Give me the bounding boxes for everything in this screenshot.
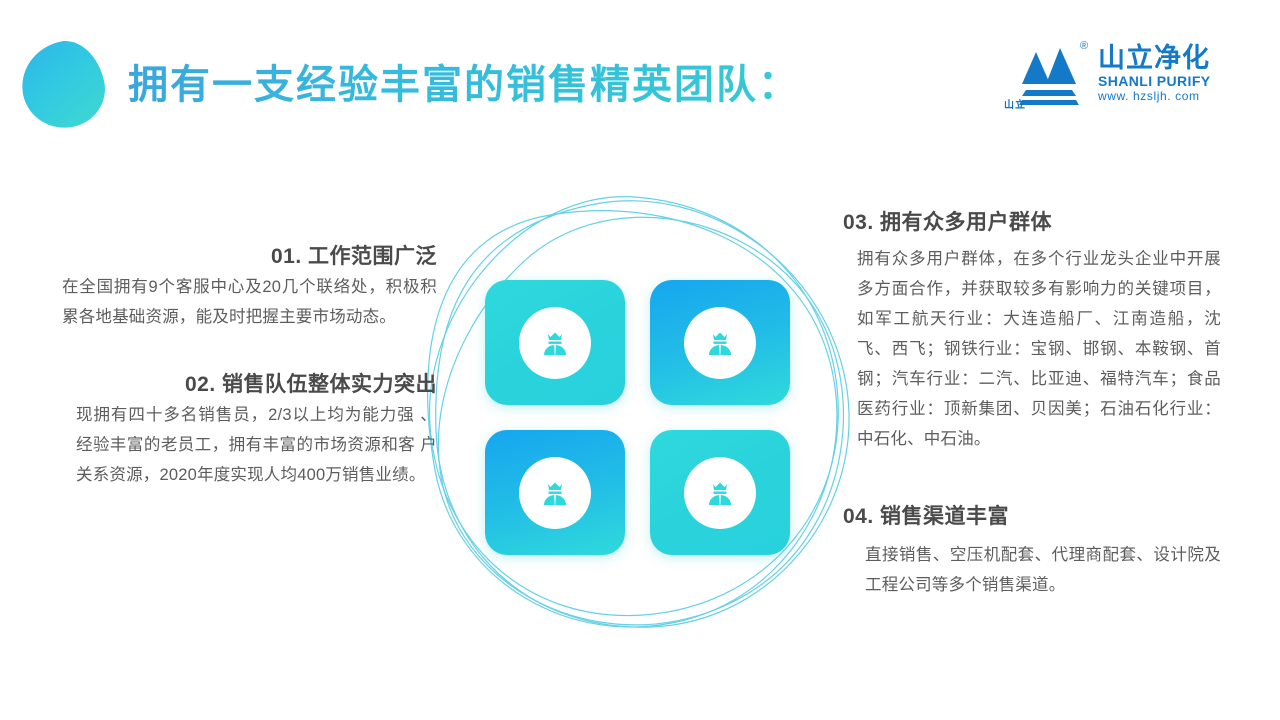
- logo-mark-caption: 山立: [1004, 96, 1026, 111]
- block-heading: 02. 销售队伍整体实力突出: [62, 370, 437, 400]
- crowned-user-icon: [535, 473, 575, 513]
- icon-tile-top-left[interactable]: [485, 280, 625, 405]
- registered-trademark-icon: ®: [1080, 40, 1088, 52]
- logo-url: www. hzsljh. com: [1098, 89, 1228, 104]
- center-graphic: [400, 175, 870, 645]
- company-logo: 山立 ® 山立净化 SHANLI PURIFY www. hzsljh. com: [1002, 40, 1228, 116]
- crowned-user-icon: [535, 323, 575, 363]
- content-block-03: 03. 拥有众多用户群体 拥有众多用户群体，在多个行业龙头企业中开展多方面合作，…: [843, 208, 1221, 454]
- crowned-user-icon: [700, 323, 740, 363]
- header-decor-blob-icon: [14, 34, 112, 135]
- icon-circle: [684, 457, 756, 529]
- block-body: 在全国拥有9个客服中心及20几个联络处，积极积累各地基础资源，能及时把握主要市场…: [62, 272, 437, 332]
- logo-name-en: SHANLI PURIFY: [1098, 73, 1228, 89]
- block-body: 现拥有四十多名销售员，2/3以上均为能力强 、 经验丰富的老员工，拥有丰富的市场…: [62, 400, 437, 490]
- content-block-01: 01. 工作范围广泛 在全国拥有9个客服中心及20几个联络处，积极积累各地基础资…: [62, 242, 437, 332]
- icon-circle: [519, 457, 591, 529]
- icon-circle: [684, 307, 756, 379]
- block-heading: 03. 拥有众多用户群体: [843, 208, 1221, 238]
- block-body: 直接销售、空压机配套、代理商配套、设计院及工程公司等多个销售渠道。: [843, 540, 1221, 600]
- icon-tile-bottom-right[interactable]: [650, 430, 790, 555]
- crowned-user-icon: [700, 473, 740, 513]
- block-heading: 04. 销售渠道丰富: [843, 502, 1221, 532]
- icon-circle: [519, 307, 591, 379]
- slide-root: 拥有一支经验丰富的销售精英团队： 山立 ® 山立净化 SHANLI PURIFY…: [0, 0, 1280, 720]
- logo-text-group: 山立净化 SHANLI PURIFY www. hzsljh. com: [1098, 43, 1228, 104]
- content-block-02: 02. 销售队伍整体实力突出 现拥有四十多名销售员，2/3以上均为能力强 、 经…: [62, 370, 437, 490]
- page-title: 拥有一支经验丰富的销售精英团队：: [128, 58, 800, 112]
- icon-tile-top-right[interactable]: [650, 280, 790, 405]
- right-text-column: 03. 拥有众多用户群体 拥有众多用户群体，在多个行业龙头企业中开展多方面合作，…: [843, 208, 1221, 600]
- block-body: 拥有众多用户群体，在多个行业龙头企业中开展多方面合作，并获取较多有影响力的关键项…: [843, 244, 1221, 454]
- icon-tile-grid: [485, 280, 790, 570]
- icon-tile-bottom-left[interactable]: [485, 430, 625, 555]
- mountain-logo-icon: 山立: [1002, 42, 1090, 112]
- block-heading: 01. 工作范围广泛: [62, 242, 437, 272]
- left-text-column: 01. 工作范围广泛 在全国拥有9个客服中心及20几个联络处，积极积累各地基础资…: [62, 242, 437, 490]
- logo-name-cn: 山立净化: [1098, 43, 1228, 73]
- content-block-04: 04. 销售渠道丰富 直接销售、空压机配套、代理商配套、设计院及工程公司等多个销…: [843, 502, 1221, 600]
